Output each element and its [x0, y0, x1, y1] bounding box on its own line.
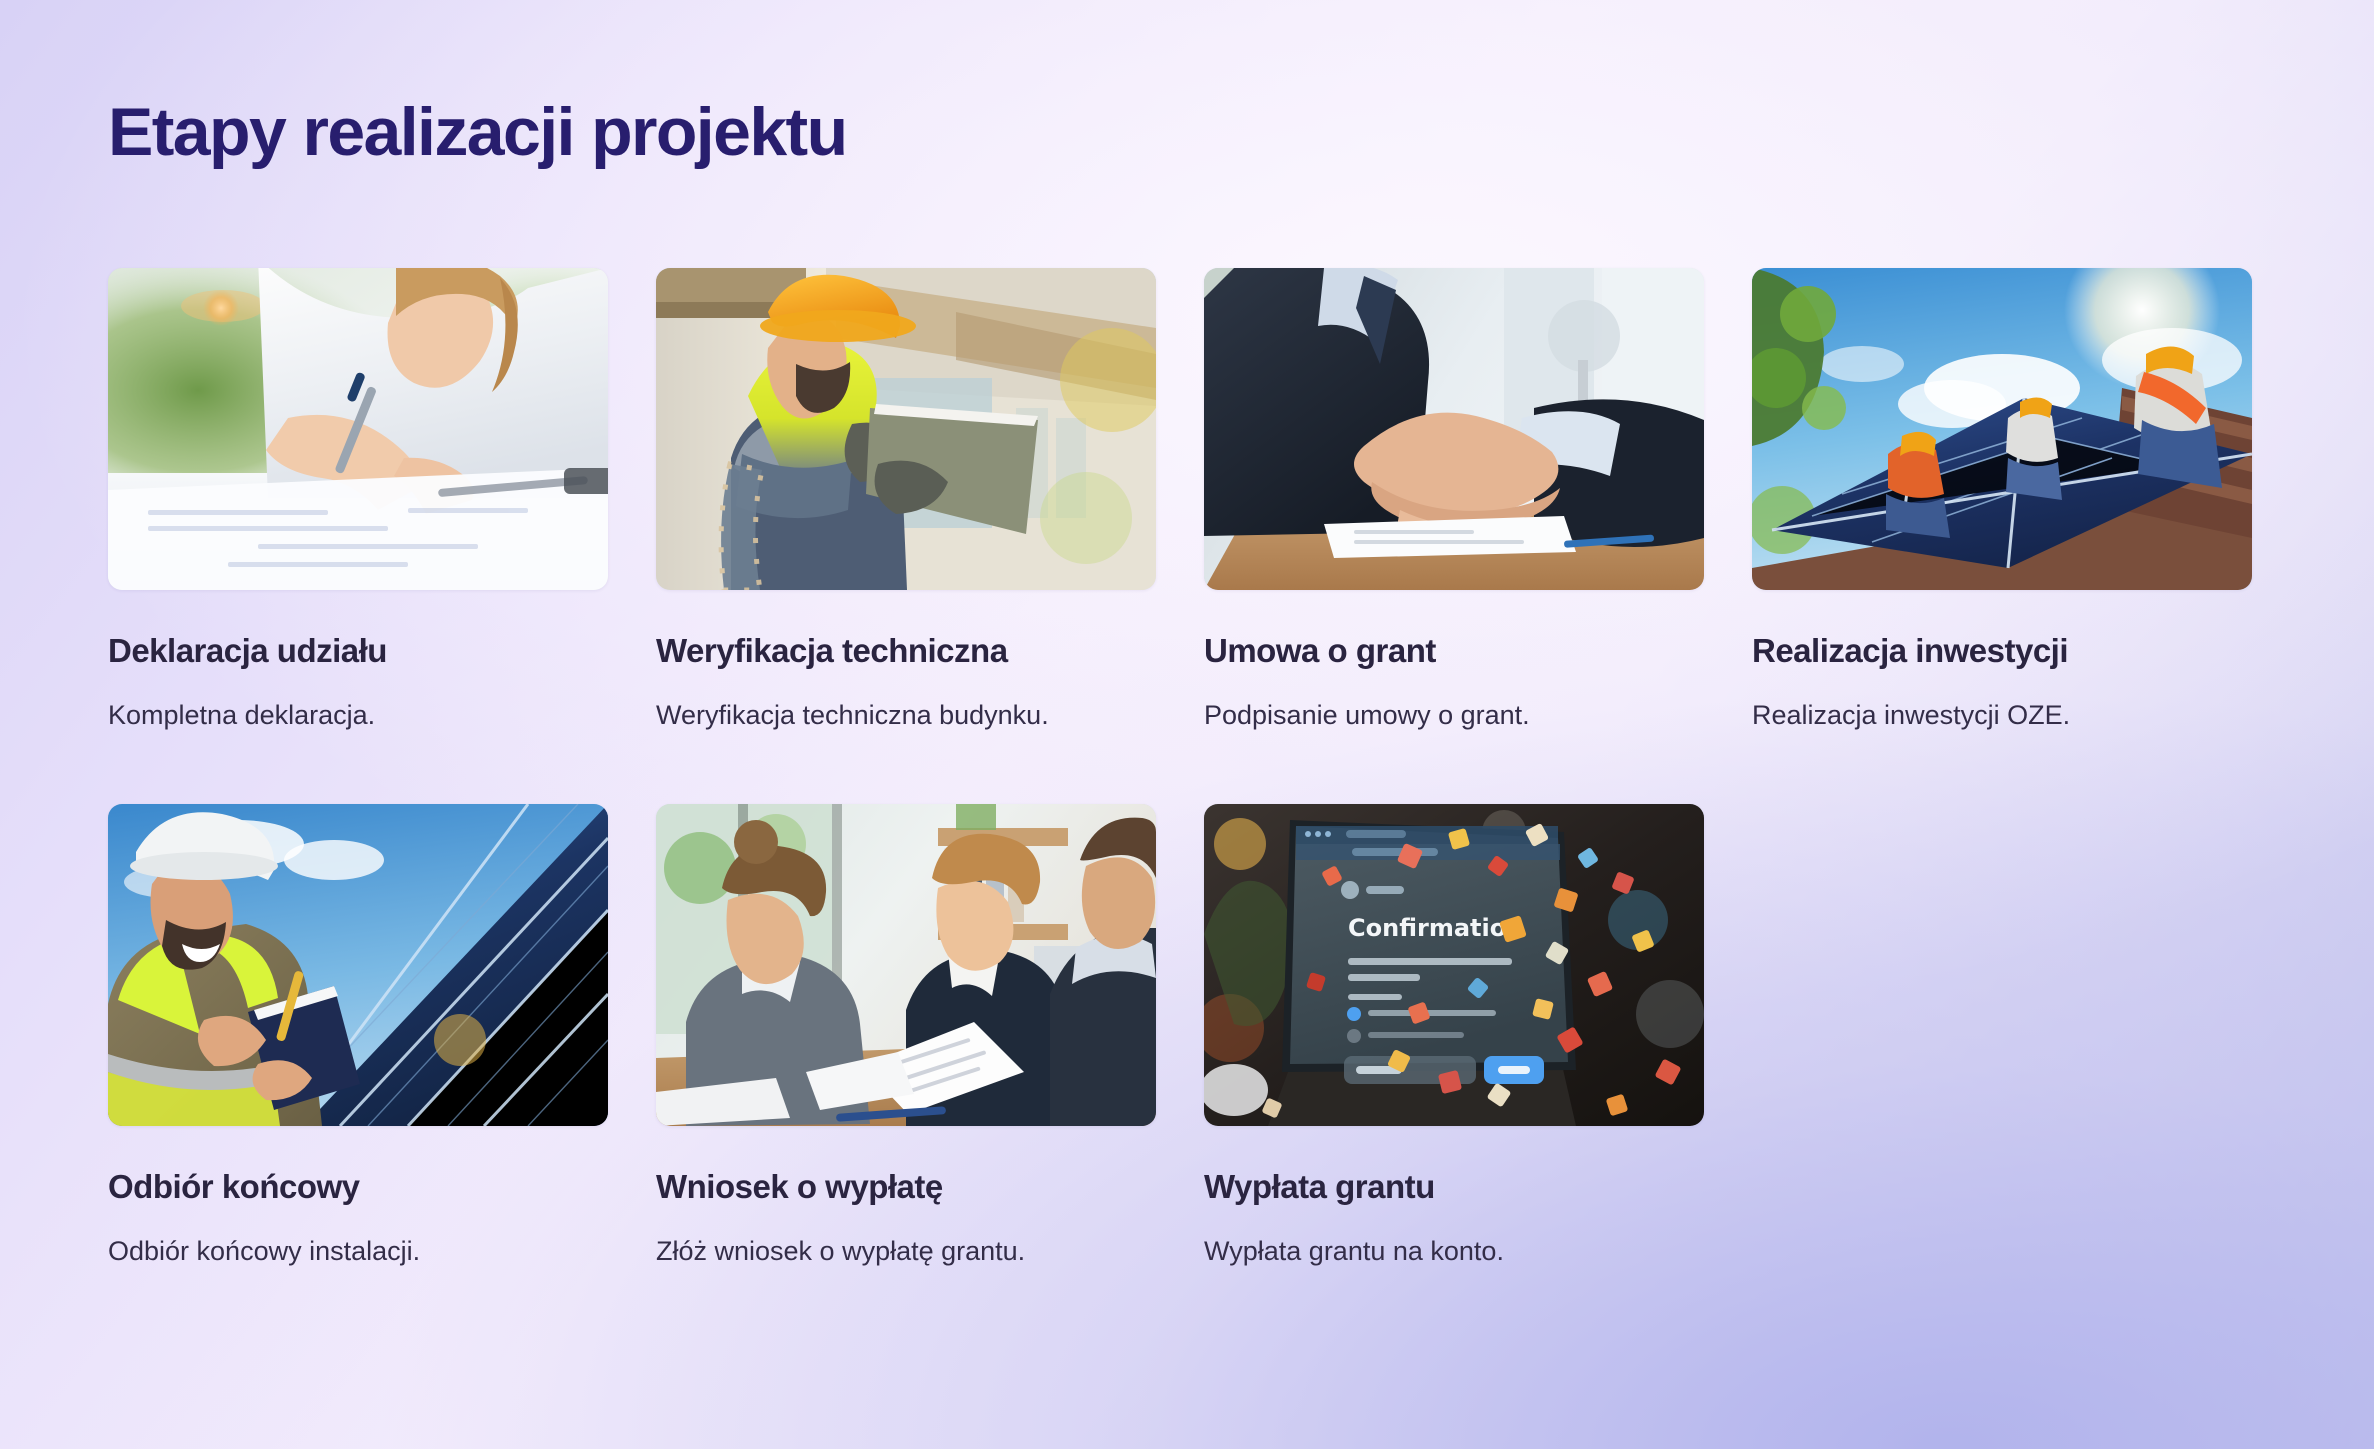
- step-card[interactable]: Realizacja inwestycji Realizacja inwesty…: [1752, 268, 2252, 736]
- svg-text:Confirmation: Confirmation: [1348, 914, 1523, 942]
- step-title: Deklaracja udziału: [108, 632, 608, 670]
- solar-panel-roof-installers-photo: [1752, 268, 2252, 590]
- step-card[interactable]: Weryfikacja techniczna Weryfikacja techn…: [656, 268, 1156, 736]
- steps-section: Etapy realizacji projektu: [0, 0, 2374, 1449]
- inspector-with-clipboard-photo: [656, 268, 1156, 590]
- step-card[interactable]: Umowa o grant Podpisanie umowy o grant.: [1204, 268, 1704, 736]
- step-description: Wypłata grantu na konto.: [1204, 1232, 1674, 1272]
- step-description: Odbiór końcowy instalacji.: [108, 1232, 578, 1272]
- step-title: Realizacja inwestycji: [1752, 632, 2252, 670]
- step-description: Złóż wniosek o wypłatę grantu.: [656, 1232, 1126, 1272]
- step-description: Realizacja inwestycji OZE.: [1752, 696, 2222, 736]
- step-description: Weryfikacja techniczna budynku.: [656, 696, 1126, 736]
- office-meeting-documents-photo: [656, 804, 1156, 1126]
- step-card[interactable]: Wniosek o wypłatę Złóż wniosek o wypłatę…: [656, 804, 1156, 1272]
- step-card[interactable]: Deklaracja udziału Kompletna deklaracja.: [108, 268, 608, 736]
- step-title: Odbiór końcowy: [108, 1168, 608, 1206]
- step-description: Podpisanie umowy o grant.: [1204, 696, 1674, 736]
- step-title: Weryfikacja techniczna: [656, 632, 1156, 670]
- step-title: Wniosek o wypłatę: [656, 1168, 1156, 1206]
- laptop-confirmation-confetti-photo: Confirmation: [1204, 804, 1704, 1126]
- page-title: Etapy realizacji projektu: [108, 98, 847, 166]
- step-title: Umowa o grant: [1204, 632, 1704, 670]
- engineer-inspecting-solar-panels-photo: [108, 804, 608, 1126]
- step-description: Kompletna deklaracja.: [108, 696, 578, 736]
- business-handshake-photo: [1204, 268, 1704, 590]
- step-title: Wypłata grantu: [1204, 1168, 1704, 1206]
- step-card[interactable]: Odbiór końcowy Odbiór końcowy instalacji…: [108, 804, 608, 1272]
- steps-grid: Deklaracja udziału Kompletna deklaracja.: [108, 268, 2268, 1272]
- step-card[interactable]: Confirmation: [1204, 804, 1704, 1272]
- woman-signing-document-photo: [108, 268, 608, 590]
